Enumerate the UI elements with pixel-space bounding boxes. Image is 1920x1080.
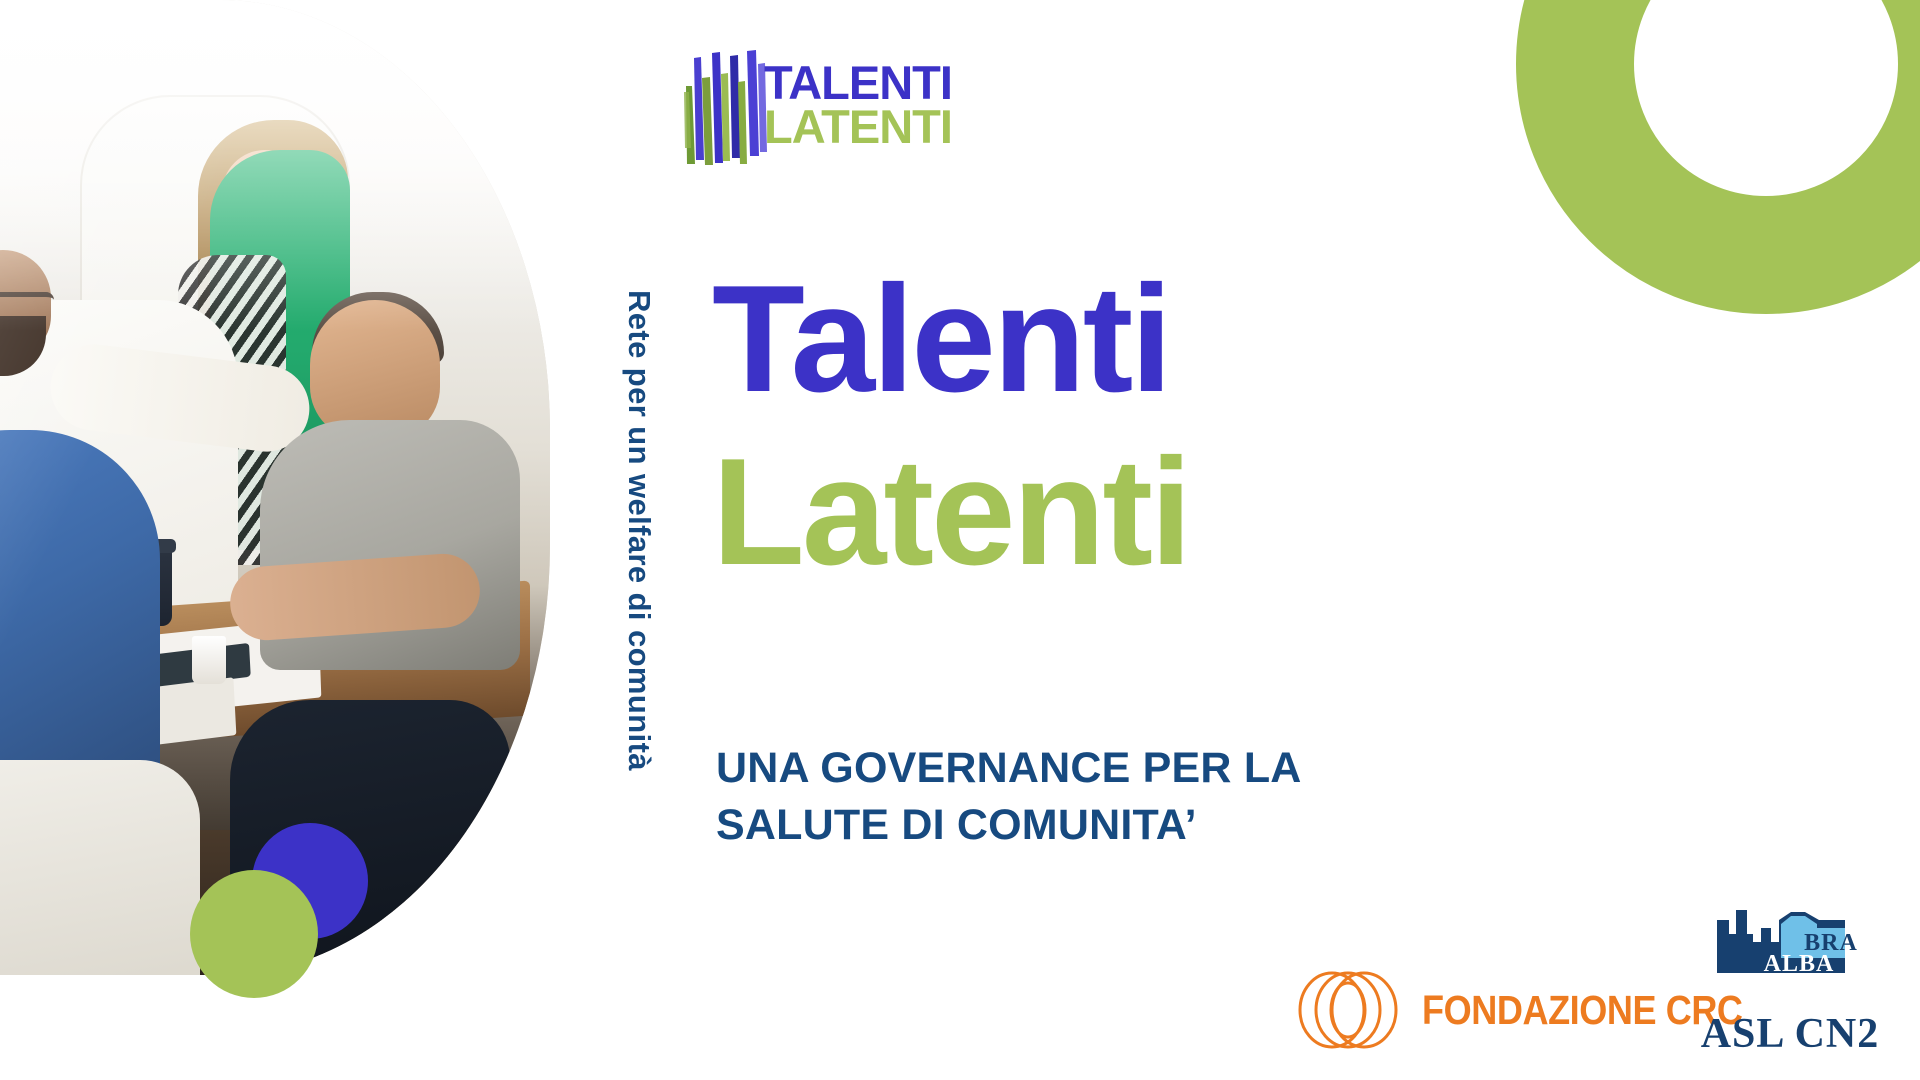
asl-skyline-icon: BRA ALBA (1695, 898, 1885, 1016)
talenti-latenti-logo: TALENTI LATENTI (680, 48, 930, 166)
green-ring-decoration (1516, 0, 1920, 314)
page-title: Talenti Latenti (712, 262, 1512, 590)
asl-cn2-logo: BRA ALBA ASL CN2 (1695, 898, 1885, 1058)
photo-canvas (0, 0, 550, 975)
team-meeting-photo (0, 0, 550, 975)
presentation-slide: TALENTI LATENTI Rete per un welfare di c… (0, 0, 1920, 1080)
green-circle-decoration (190, 870, 318, 998)
title-line-latenti: Latenti (712, 435, 1512, 590)
logo-line-latenti: LATENTI (764, 105, 952, 149)
vertical-tagline-text: Rete per un welfare di comunità (621, 290, 657, 771)
title-line-talenti: Talenti (712, 262, 1512, 417)
vertical-tagline: Rete per un welfare di comunità (617, 290, 661, 870)
crc-rings-icon (1292, 968, 1404, 1052)
photo-light-overlay (0, 0, 550, 975)
logo-wordmark: TALENTI LATENTI (764, 61, 952, 148)
paint-strokes-icon (680, 48, 772, 166)
svg-text:ALBA: ALBA (1764, 951, 1835, 977)
asl-caption: ASL CN2 (1695, 1010, 1885, 1058)
page-subtitle: UNA GOVERNANCE PER LA SALUTE DI COMUNITA… (716, 740, 1476, 854)
logo-line-talenti: TALENTI (764, 61, 952, 105)
